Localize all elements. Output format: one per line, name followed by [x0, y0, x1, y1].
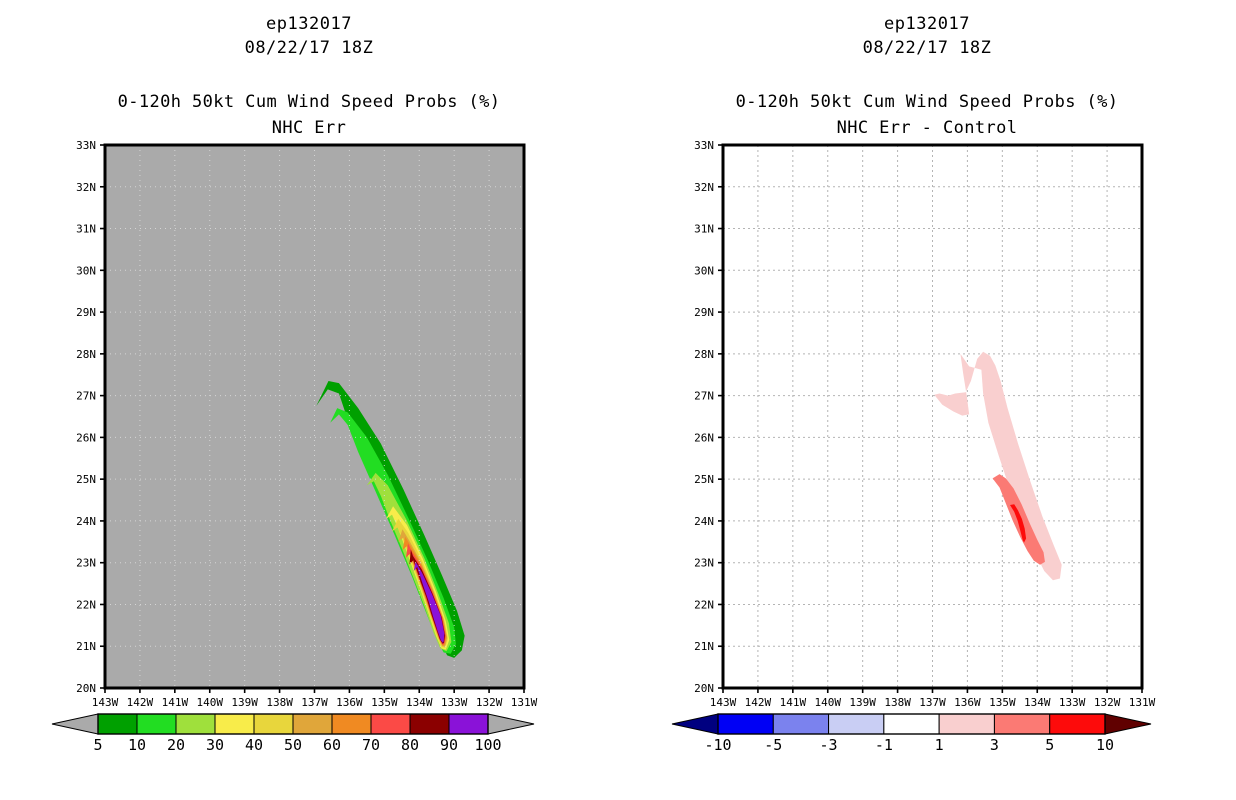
plot-background [105, 145, 524, 688]
y-tick-label: 33N [694, 139, 714, 152]
y-tick-label: 27N [76, 390, 96, 403]
colorbar-swatch [98, 714, 137, 734]
panel-right-title-date: 08/22/17 18Z [618, 38, 1236, 58]
y-tick-label: 29N [694, 306, 714, 319]
colorbar-cap-low [672, 714, 718, 734]
colorbar-swatch [254, 714, 293, 734]
y-tick-label: 25N [694, 473, 714, 486]
y-tick-label: 30N [76, 264, 96, 277]
y-tick-label: 24N [694, 515, 714, 528]
colorbar-tick-label: 60 [323, 736, 341, 754]
panel-right-title-main: 0-120h 50kt Cum Wind Speed Probs (%) [618, 92, 1236, 112]
y-tick-label: 30N [694, 264, 714, 277]
y-tick-label: 24N [76, 515, 96, 528]
panel-right-title-sub: NHC Err - Control [618, 118, 1236, 138]
colorbar-tick-label: 30 [206, 736, 224, 754]
y-tick-label: 25N [76, 473, 96, 486]
colorbar-swatch [773, 714, 828, 734]
colorbar-tick-label: -3 [820, 736, 838, 754]
colorbar-cap-high [1105, 714, 1151, 734]
y-tick-label: 26N [76, 431, 96, 444]
y-tick-label: 20N [76, 682, 96, 695]
y-tick-label: 28N [694, 348, 714, 361]
y-tick-label: 22N [76, 598, 96, 611]
colorbar-swatch [884, 714, 939, 734]
colorbar-tick-label: 10 [1096, 736, 1114, 754]
colorbar-tick-label: 3 [990, 736, 999, 754]
y-tick-label: 31N [694, 223, 714, 236]
panel-left: ep132017 08/22/17 18Z 0-120h 50kt Cum Wi… [0, 0, 618, 800]
colorbar-swatch [215, 714, 254, 734]
y-tick-label: 32N [694, 181, 714, 194]
colorbar-swatch [718, 714, 773, 734]
colorbar-tick-label: 70 [362, 736, 380, 754]
y-tick-label: 33N [76, 139, 96, 152]
panel-left-title-sub: NHC Err [0, 118, 618, 138]
colorbar-tick-label: 10 [128, 736, 146, 754]
colorbar-swatch [410, 714, 449, 734]
y-tick-label: 26N [694, 431, 714, 444]
colorbar-tick-label: 100 [474, 736, 501, 754]
colorbar-tick-label: -5 [764, 736, 782, 754]
y-tick-label: 21N [694, 640, 714, 653]
colorbar-cap-high [488, 714, 534, 734]
y-tick-label: 22N [694, 598, 714, 611]
colorbar-tick-label: 40 [245, 736, 263, 754]
plot-area-right: 143W142W141W140W139W138W137W136W135W134W… [618, 138, 1236, 708]
panel-right: ep132017 08/22/17 18Z 0-120h 50kt Cum Wi… [618, 0, 1236, 800]
colorbar-swatch [994, 714, 1049, 734]
colorbar-tick-label: 50 [284, 736, 302, 754]
y-tick-label: 31N [76, 223, 96, 236]
colorbar-swatch [332, 714, 371, 734]
panel-left-title-main: 0-120h 50kt Cum Wind Speed Probs (%) [0, 92, 618, 112]
colorbar-tick-label: -1 [875, 736, 893, 754]
y-tick-label: 20N [694, 682, 714, 695]
colorbar-tick-label: -10 [704, 736, 731, 754]
colorbar-swatch [371, 714, 410, 734]
colorbar-difference[interactable]: -10-5-3-113510 [618, 706, 1236, 766]
y-tick-label: 21N [76, 640, 96, 653]
panel-right-title-id: ep132017 [618, 14, 1236, 34]
colorbar-tick-label: 5 [93, 736, 102, 754]
y-tick-label: 29N [76, 306, 96, 319]
colorbar-tick-label: 1 [935, 736, 944, 754]
y-tick-label: 23N [694, 557, 714, 570]
panel-left-title-id: ep132017 [0, 14, 618, 34]
y-tick-label: 28N [76, 348, 96, 361]
colorbar-swatch [293, 714, 332, 734]
colorbar-swatch [1050, 714, 1105, 734]
colorbar-swatch [449, 714, 488, 734]
colorbar-swatch [829, 714, 884, 734]
colorbar-probability[interactable]: 5102030405060708090100 [0, 706, 618, 766]
plot-area-left: 143W142W141W140W139W138W137W136W135W134W… [0, 138, 618, 708]
y-tick-label: 27N [694, 390, 714, 403]
colorbar-swatch [176, 714, 215, 734]
colorbar-tick-label: 5 [1045, 736, 1054, 754]
colorbar-tick-label: 80 [401, 736, 419, 754]
panel-left-title-date: 08/22/17 18Z [0, 38, 618, 58]
colorbar-tick-label: 90 [440, 736, 458, 754]
colorbar-swatch [137, 714, 176, 734]
colorbar-cap-low [52, 714, 98, 734]
colorbar-swatch [939, 714, 994, 734]
colorbar-tick-label: 20 [167, 736, 185, 754]
y-tick-label: 23N [76, 557, 96, 570]
y-tick-label: 32N [76, 181, 96, 194]
